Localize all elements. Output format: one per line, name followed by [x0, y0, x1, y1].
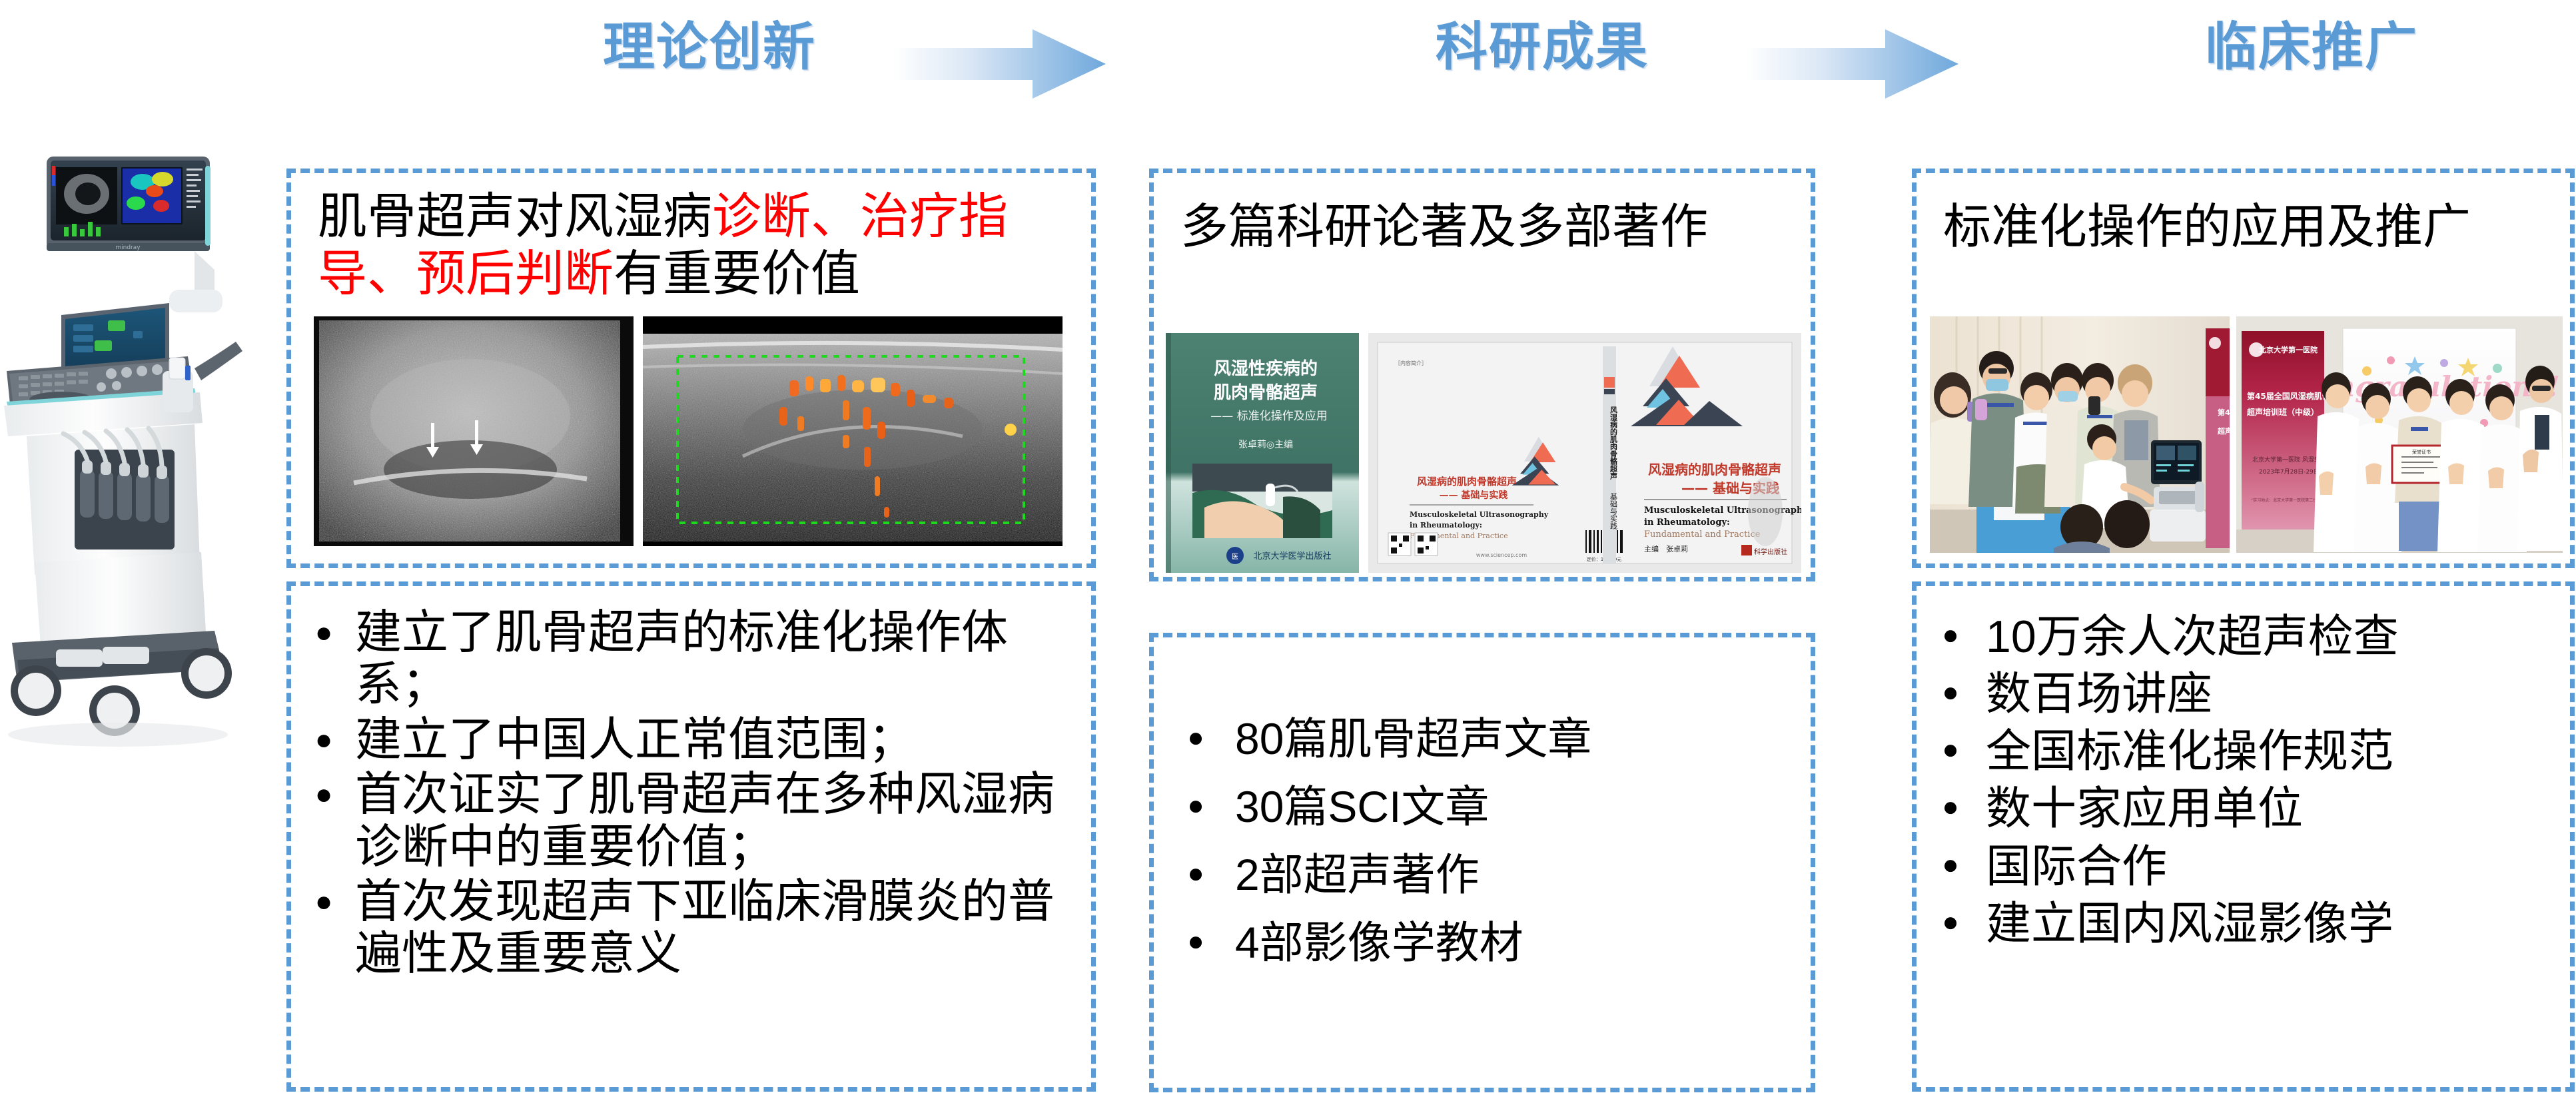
svg-text:北京大学第一医院: 北京大学第一医院 [2259, 345, 2318, 354]
list-item: ● 国际合作 [1939, 841, 2562, 892]
clinical-bullet-list: ● 10万余人次超声检查 ● 数百场讲座 ● 全国标准化操作规范 ● 数十家应用… [1939, 611, 2562, 956]
photo-training-session: 第45届 超声培 [1930, 316, 2230, 553]
list-item: ● 数百场讲座 [1939, 669, 2562, 719]
bullet-text: 建立了中国人正常值范围； [355, 713, 1078, 765]
svg-text:Musculoskeletal Ultrasonograph: Musculoskeletal Ultrasonography [1410, 510, 1549, 519]
svg-text:风湿性疾病的: 风湿性疾病的 [1214, 358, 1318, 379]
list-item: ● 建立了肌骨超声的标准化操作体系； [312, 606, 1078, 711]
bullet-text: 首次证实了肌骨超声在多种风湿病诊断中的重要价值； [355, 768, 1078, 873]
bullet-text: 国际合作 [1986, 841, 2562, 892]
bullet-dot-icon: ● [1939, 783, 1962, 821]
list-item: ● 30篇SCI文章 [1184, 782, 1797, 833]
bullet-dot-icon: ● [1939, 841, 1962, 879]
svg-text:—— 标准化操作及应用: —— 标准化操作及应用 [1210, 410, 1327, 423]
bullet-text: 30篇SCI文章 [1235, 782, 1797, 833]
svg-text:第45届: 第45届 [2218, 408, 2230, 417]
bullet-text: 2部超声著作 [1235, 850, 1797, 901]
svg-text:Fundamental and Practice: Fundamental and Practice [1644, 530, 1761, 540]
bullet-dot-icon: ● [312, 713, 335, 755]
list-item: ● 首次证实了肌骨超声在多种风湿病诊断中的重要价值； [312, 768, 1078, 873]
list-item: ● 10万余人次超声检查 [1939, 611, 2562, 662]
svg-text:in Rheumatology:: in Rheumatology: [1644, 518, 1730, 528]
bullet-text: 80篇肌骨超声文章 [1235, 714, 1797, 765]
arrow-right-icon [1745, 27, 1958, 101]
slide-root: 理论创新 科研成果 [0, 0, 2576, 1097]
photo-group-certificate: Congratulations! 北京大学第一医院 [2236, 316, 2563, 553]
clinical-headline: 标准化操作的应用及推广 [1943, 200, 2551, 256]
bullet-dot-icon: ● [1184, 714, 1207, 751]
clinical-bullets-box: ● 10万余人次超声检查 ● 数百场讲座 ● 全国标准化操作规范 ● 数十家应用… [1912, 581, 2575, 1092]
svg-text:超声培训班（中级）: 超声培训班（中级） [2246, 407, 2319, 417]
svg-text:“实习地点：北京大学第一医院第二住院部: “实习地点：北京大学第一医院第二住院部 [2251, 498, 2325, 503]
theory-bullets-box: ● 建立了肌骨超声的标准化操作体系； ● 建立了中国人正常值范围； ● 首次证实… [286, 581, 1096, 1092]
svg-text:风湿病的肌肉骨骼超声: 风湿病的肌肉骨骼超声 [1609, 406, 1619, 480]
research-headline-box: 多篇科研论著及多部著作 风湿性疾病的 肌肉 [1149, 169, 1815, 581]
svg-text:第45届全国风湿病肌骨: 第45届全国风湿病肌骨 [2247, 391, 2330, 401]
ultrasound-machine-illustration: mindray [0, 137, 281, 756]
ultrasound-grayscale-image [314, 316, 634, 546]
bullet-text: 首次发现超声下亚临床滑膜炎的普遍性及重要意义 [355, 875, 1078, 980]
list-item: ● 2部超声著作 [1184, 850, 1797, 901]
stage-title-theory: 理论创新 [603, 5, 816, 80]
bullet-text: 数百场讲座 [1986, 669, 2562, 719]
list-item: ● 首次发现超声下亚临床滑膜炎的普遍性及重要意义 [312, 875, 1078, 980]
bullet-text: 建立国内风湿影像学 [1986, 899, 2562, 949]
bullet-dot-icon: ● [312, 875, 335, 916]
list-item: ● 80篇肌骨超声文章 [1184, 714, 1797, 765]
list-item: ● 全国标准化操作规范 [1939, 726, 2562, 777]
ultrasound-image-pair [314, 316, 1063, 546]
bullet-dot-icon: ● [1939, 669, 1962, 706]
svg-text:张卓莉◎主编: 张卓莉◎主编 [1238, 440, 1293, 450]
svg-text:荣誉证书: 荣誉证书 [2412, 449, 2431, 455]
research-bullets-box: ● 80篇肌骨超声文章 ● 30篇SCI文章 ● 2部超声著作 ● 4部影像学教… [1149, 633, 1815, 1092]
bullet-text: 数十家应用单位 [1986, 783, 2562, 834]
svg-text:2023年7月28日-29日: 2023年7月28日-29日 [2259, 468, 2320, 476]
list-item: ● 建立了中国人正常值范围； [312, 713, 1078, 765]
arrow-right-icon [893, 27, 1106, 101]
svg-text:北京大学医学出版社: 北京大学医学出版社 [1253, 551, 1331, 561]
stage-header: 理论创新 科研成果 [0, 0, 2576, 117]
bullet-dot-icon: ● [1939, 726, 1962, 763]
book-cover-white: ［内容简介］ 风湿病的肌肉骨骼超声 —— 基础与实践 Musculoskelet… [1368, 333, 1801, 573]
svg-text:—— 基础与实践: —— 基础与实践 [1440, 490, 1508, 501]
svg-text:www.sciencep.com: www.sciencep.com [1476, 552, 1527, 558]
bullet-text: 全国标准化操作规范 [1986, 726, 2562, 777]
ultrasound-doppler-image [643, 316, 1063, 546]
svg-text:风湿病的肌肉骨骼超声: 风湿病的肌肉骨骼超声 [1417, 476, 1517, 488]
svg-text:基础与实践: 基础与实践 [1609, 493, 1618, 530]
bullet-dot-icon: ● [1184, 782, 1207, 819]
theory-headline: 肌骨超声对风湿病诊断、治疗指导、预后判断有重要价值 [318, 188, 1073, 302]
svg-text:［内容简介］: ［内容简介］ [1395, 360, 1427, 366]
headline-text-black-1: 肌骨超声对风湿病 [318, 188, 712, 244]
stage-title-research: 科研成果 [1436, 5, 1649, 80]
bullet-text: 10万余人次超声检查 [1986, 611, 2562, 662]
svg-text:超声培: 超声培 [2217, 426, 2230, 436]
list-item: ● 建立国内风湿影像学 [1939, 899, 2562, 949]
theory-bullet-list: ● 建立了肌骨超声的标准化操作体系； ● 建立了中国人正常值范围； ● 首次证实… [312, 606, 1078, 982]
bullet-dot-icon: ● [312, 768, 335, 809]
bullet-text: 4部影像学教材 [1235, 918, 1797, 968]
book-cover-green: 风湿性疾病的 肌肉骨骼超声 —— 标准化操作及应用 张卓莉◎主编 医 北京大学医 [1166, 333, 1359, 573]
bullet-dot-icon: ● [1939, 611, 1962, 649]
bullet-dot-icon: ● [1184, 850, 1207, 887]
theory-headline-box: 肌骨超声对风湿病诊断、治疗指导、预后判断有重要价值 [286, 169, 1096, 568]
bullet-dot-icon: ● [312, 606, 335, 647]
bullet-text: 建立了肌骨超声的标准化操作体系； [355, 606, 1078, 711]
bullet-dot-icon: ● [1939, 899, 1962, 936]
clinical-photo-pair: 第45届 超声培 [1930, 316, 2563, 553]
stage-title-clinical: 临床推广 [2205, 5, 2418, 80]
svg-text:科学出版社: 科学出版社 [1754, 548, 1787, 556]
svg-text:主编 张卓莉: 主编 张卓莉 [1644, 544, 1688, 553]
list-item: ● 数十家应用单位 [1939, 783, 2562, 834]
list-item: ● 4部影像学教材 [1184, 918, 1797, 968]
research-headline: 多篇科研论著及多部著作 [1180, 200, 1792, 256]
svg-text:肌肉骨骼超声: 肌肉骨骼超声 [1214, 382, 1318, 403]
headline-text-black-2: 有重要价值 [614, 246, 860, 301]
svg-text:in Rheumatology:: in Rheumatology: [1410, 521, 1482, 530]
bullet-dot-icon: ● [1184, 918, 1207, 955]
svg-text:mindray: mindray [115, 244, 141, 251]
research-bullet-list: ● 80篇肌骨超声文章 ● 30篇SCI文章 ● 2部超声著作 ● 4部影像学教… [1184, 714, 1797, 986]
svg-text:风湿病的肌肉骨骼超声: 风湿病的肌肉骨骼超声 [1648, 462, 1781, 478]
clinical-headline-box: 标准化操作的应用及推广 [1912, 169, 2575, 568]
svg-text:医: 医 [1232, 553, 1238, 561]
book-cover-pair: 风湿性疾病的 肌肉骨骼超声 —— 标准化操作及应用 张卓莉◎主编 医 北京大学医 [1166, 333, 1801, 573]
